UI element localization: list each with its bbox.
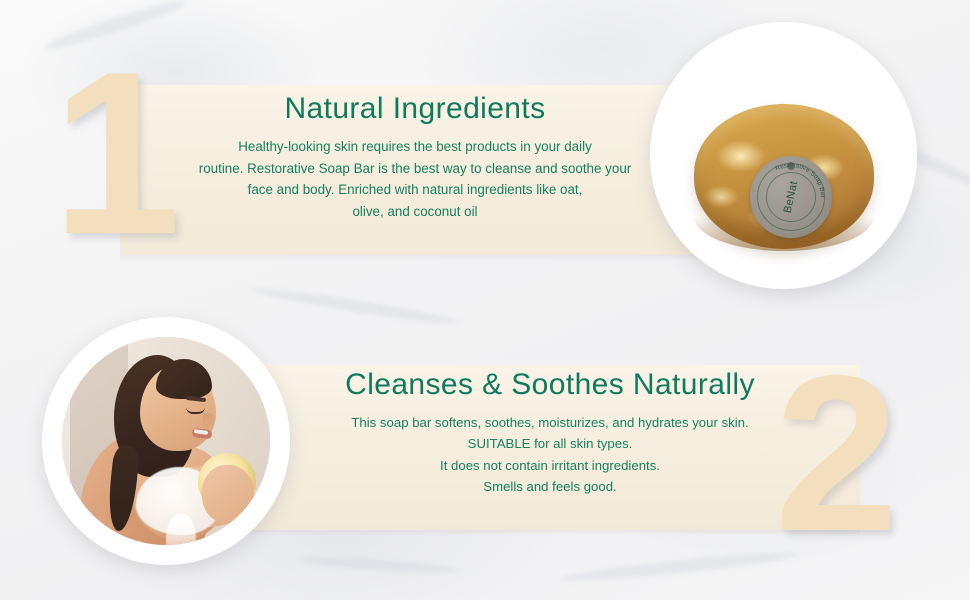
section-1-heading: Natural Ingredients bbox=[175, 92, 655, 126]
marble-vein bbox=[250, 284, 459, 329]
section-2-body-line: It does not contain irritant ingredients… bbox=[330, 455, 770, 476]
soap-bar-photo-inner: Restorative Soap Bar BeNat bbox=[672, 44, 895, 267]
section-1-body-line: face and body. Enriched with natural ing… bbox=[175, 179, 655, 201]
soap-bar-scene: Restorative Soap Bar BeNat bbox=[672, 44, 895, 267]
scene-hand bbox=[202, 465, 254, 523]
scene-nose bbox=[203, 413, 214, 426]
section-1-text-block: Natural Ingredients Healthy-looking skin… bbox=[175, 92, 655, 223]
woman-showering-photo-inner bbox=[62, 337, 270, 545]
marble-vein bbox=[560, 547, 800, 585]
soap-tag-brand-label: BeNat bbox=[742, 148, 839, 245]
section-2-numeral: 2 bbox=[775, 343, 892, 565]
product-feature-banner: 1 Natural Ingredients Healthy-looking sk… bbox=[0, 0, 970, 600]
section-1-numeral: 1 bbox=[52, 38, 175, 270]
section-1-body-line: routine. Restorative Soap Bar is the bes… bbox=[175, 158, 655, 180]
soap-bar-photo: Restorative Soap Bar BeNat bbox=[650, 22, 917, 289]
woman-showering-photo bbox=[42, 317, 290, 565]
section-2-text-block: Cleanses & Soothes Naturally This soap b… bbox=[330, 368, 770, 498]
soap-tag: Restorative Soap Bar BeNat bbox=[750, 156, 832, 238]
section-2-heading: Cleanses & Soothes Naturally bbox=[330, 368, 770, 402]
shower-scene bbox=[62, 337, 270, 545]
section-2-body: This soap bar softens, soothes, moisturi… bbox=[330, 412, 770, 498]
section-2-body-line: This soap bar softens, soothes, moisturi… bbox=[330, 412, 770, 433]
section-1-body-line: olive, and coconut oil bbox=[175, 201, 655, 223]
section-1-body-line: Healthy-looking skin requires the best p… bbox=[175, 136, 655, 158]
marble-vein bbox=[300, 554, 460, 575]
section-2-body-line: SUITABLE for all skin types. bbox=[330, 433, 770, 454]
section-1-body: Healthy-looking skin requires the best p… bbox=[175, 136, 655, 223]
section-2-body-line: Smells and feels good. bbox=[330, 476, 770, 497]
